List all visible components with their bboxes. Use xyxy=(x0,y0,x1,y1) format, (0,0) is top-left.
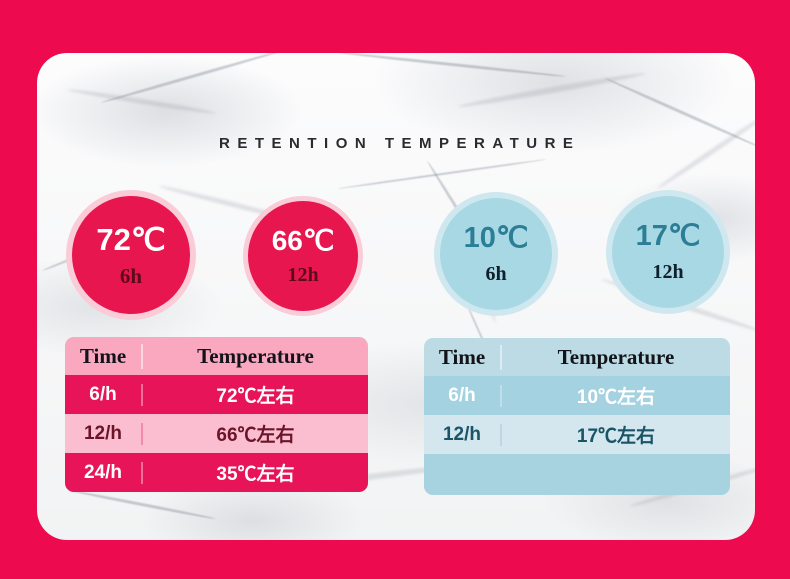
cold-header-temperature: Temperature xyxy=(502,345,730,370)
hot-row-2-time: 12/h xyxy=(65,423,143,445)
cold-row-1-temperature: 10℃左右 xyxy=(502,382,730,409)
circle-cold-12h-temperature: 17℃ xyxy=(636,222,701,251)
circle-cold-6h-duration: 6h xyxy=(485,264,506,284)
hot-row-3-time: 24/h xyxy=(65,462,143,484)
circle-hot-6h-temperature: 72℃ xyxy=(96,224,165,255)
circle-hot-12h: 66℃ 12h xyxy=(243,196,363,316)
table-row: 12/h 66℃左右 xyxy=(65,414,368,453)
hot-row-1-time: 6/h xyxy=(65,384,143,406)
circle-hot-12h-duration: 12h xyxy=(287,265,318,285)
circle-cold-6h-temperature: 10℃ xyxy=(464,224,529,253)
circle-hot-12h-temperature: 66℃ xyxy=(272,227,335,255)
hot-row-1-temperature: 72℃左右 xyxy=(143,381,368,408)
table-header-row: Time Temperature xyxy=(65,337,368,375)
circle-hot-6h-core: 72℃ 6h xyxy=(72,196,190,314)
page-title: RETENTION TEMPERATURE xyxy=(37,135,755,152)
hot-row-3-temperature: 35℃左右 xyxy=(143,459,368,486)
cold-retention-table: Time Temperature 6/h 10℃左右 12/h 17℃左右 xyxy=(424,338,730,495)
table-row: 24/h 35℃左右 xyxy=(65,453,368,492)
hot-retention-table: Time Temperature 6/h 72℃左右 12/h 66℃左右 24… xyxy=(65,337,368,492)
cold-header-time: Time xyxy=(424,345,502,370)
table-row: 12/h 17℃左右 xyxy=(424,415,730,454)
cold-row-1-time: 6/h xyxy=(424,385,502,407)
marble-vein xyxy=(337,53,566,78)
infographic-canvas: RETENTION TEMPERATURE 72℃ 6h 66℃ 12h 10℃… xyxy=(0,0,790,579)
hot-header-temperature: Temperature xyxy=(143,344,368,369)
table-header-row: Time Temperature xyxy=(424,338,730,376)
hot-header-time: Time xyxy=(65,344,143,369)
table-row: 6/h 72℃左右 xyxy=(65,375,368,414)
circle-hot-6h-duration: 6h xyxy=(120,266,142,287)
circle-cold-6h: 10℃ 6h xyxy=(434,192,558,316)
cold-row-2-time: 12/h xyxy=(424,424,502,446)
circle-cold-12h-core: 17℃ 12h xyxy=(612,196,724,308)
hot-row-2-temperature: 66℃左右 xyxy=(143,420,368,447)
marble-vein xyxy=(458,71,646,110)
marble-vein xyxy=(68,489,216,521)
cold-table-filler-row xyxy=(424,454,730,495)
circle-cold-12h-duration: 12h xyxy=(652,262,683,282)
cold-row-2-temperature: 17℃左右 xyxy=(502,421,730,448)
circle-hot-12h-core: 66℃ 12h xyxy=(248,201,358,311)
table-row: 6/h 10℃左右 xyxy=(424,376,730,415)
circle-cold-12h: 17℃ 12h xyxy=(606,190,730,314)
circle-cold-6h-core: 10℃ 6h xyxy=(440,198,552,310)
circle-hot-6h: 72℃ 6h xyxy=(66,190,196,320)
